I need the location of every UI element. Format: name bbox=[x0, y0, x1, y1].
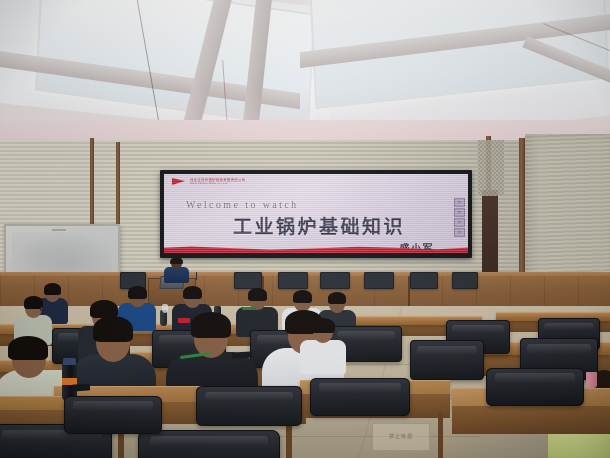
slide-nav-item[interactable]: 01 bbox=[454, 198, 465, 207]
smartphone[interactable] bbox=[232, 351, 252, 358]
stage-chair[interactable] bbox=[410, 272, 438, 289]
person-hair bbox=[293, 290, 312, 303]
stage-chair[interactable] bbox=[452, 272, 478, 289]
slide-title: 工业锅炉基础知识 bbox=[214, 212, 424, 239]
person-hair bbox=[8, 336, 48, 360]
person-hair bbox=[128, 286, 147, 299]
slide-nav-item[interactable]: 02 bbox=[454, 208, 465, 217]
water-bottle-cap bbox=[63, 358, 76, 365]
chair[interactable] bbox=[138, 430, 280, 458]
floor-marking: 禁止吸烟 bbox=[372, 423, 430, 451]
presenter-body bbox=[164, 267, 189, 283]
chair[interactable] bbox=[196, 386, 302, 426]
stage-chair[interactable] bbox=[278, 272, 308, 289]
wall-vent bbox=[478, 140, 504, 196]
eyeglasses bbox=[40, 307, 48, 311]
person-hair bbox=[191, 312, 231, 338]
person-hair bbox=[248, 288, 267, 301]
person-hair bbox=[44, 283, 61, 295]
presenter-hair bbox=[170, 257, 183, 264]
chair[interactable] bbox=[64, 396, 162, 434]
person-collar bbox=[242, 307, 256, 310]
chair[interactable] bbox=[310, 378, 410, 416]
microphone bbox=[196, 272, 197, 280]
stage-chair[interactable] bbox=[320, 272, 350, 289]
person-hair bbox=[328, 292, 346, 304]
chair[interactable] bbox=[410, 340, 484, 380]
conference-room-photo: 河北正特市锅炉制造有限责任公司 Hebei Zhengte Boiler Co.… bbox=[0, 0, 610, 458]
person-body bbox=[300, 340, 346, 374]
slide-nav-item[interactable]: 03 bbox=[454, 218, 465, 227]
pink-cup bbox=[586, 372, 597, 388]
slide-nav-item[interactable]: 04 bbox=[454, 228, 465, 237]
red-arrow-logo-icon bbox=[172, 177, 187, 186]
led-display[interactable]: 河北正特市锅炉制造有限责任公司 Hebei Zhengte Boiler Co.… bbox=[160, 170, 472, 258]
audience-person bbox=[300, 318, 346, 370]
desk-face bbox=[452, 406, 610, 434]
person-hair bbox=[183, 286, 202, 299]
person-hair bbox=[93, 316, 133, 342]
stage-chair[interactable] bbox=[234, 272, 262, 289]
smartphone[interactable] bbox=[72, 383, 90, 391]
presentation-slide: 河北正特市锅炉制造有限责任公司 Hebei Zhengte Boiler Co.… bbox=[164, 174, 468, 253]
presenter bbox=[164, 258, 188, 282]
logo-company-en: Hebei Zhengte Boiler Co., Ltd bbox=[190, 182, 245, 185]
stage-chair[interactable] bbox=[364, 272, 394, 289]
slide-nav-strip[interactable]: 01 02 03 04 bbox=[454, 198, 465, 238]
chair[interactable] bbox=[486, 368, 584, 406]
desk-leg bbox=[438, 412, 443, 458]
person-hair bbox=[311, 318, 335, 333]
slide-welcome-text: Welcome to watch bbox=[186, 200, 299, 211]
company-logo: 河北正特市锅炉制造有限责任公司 Hebei Zhengte Boiler Co.… bbox=[172, 177, 245, 186]
